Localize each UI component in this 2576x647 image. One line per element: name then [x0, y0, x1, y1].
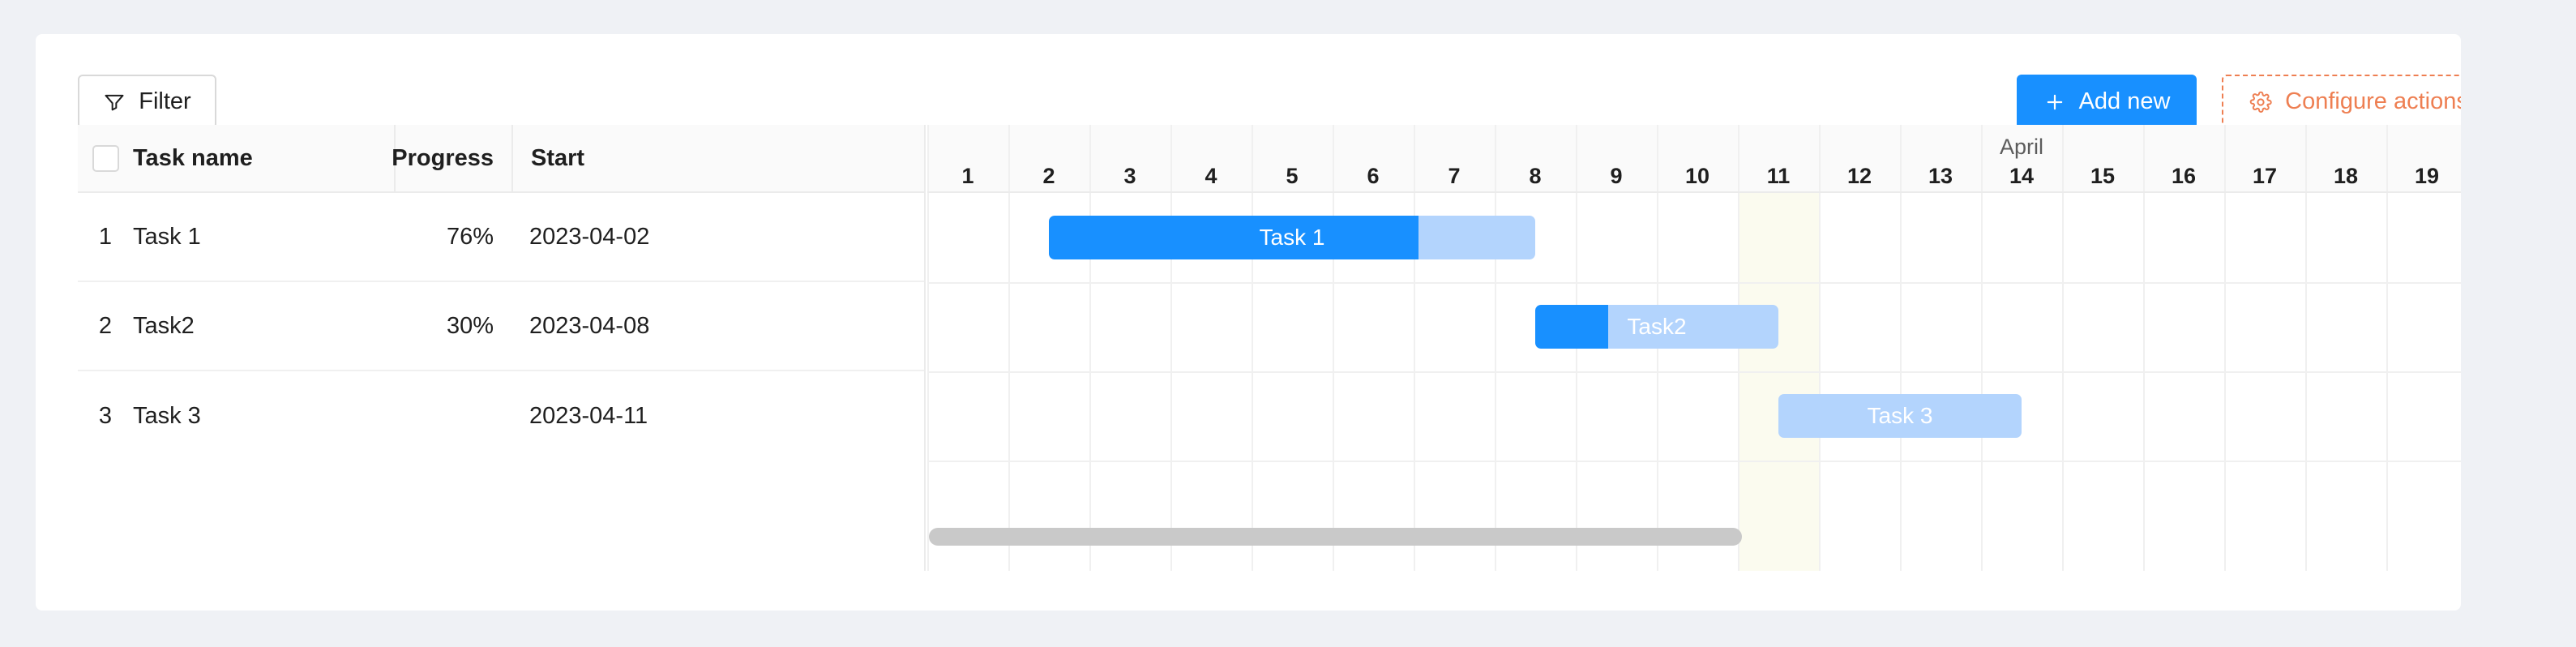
- timeline-day-label: 13: [1928, 164, 1953, 189]
- task-table: Task name Progress Start 1Task 176%2023-…: [78, 125, 926, 571]
- gantt-bar-progress-fill: [1049, 216, 1419, 259]
- timeline-day-label: 12: [1847, 164, 1872, 189]
- row-progress-cell: [394, 371, 511, 461]
- timeline-header-column-divider: [1333, 125, 1334, 191]
- row-start-date-cell: 2023-04-11: [511, 371, 706, 461]
- row-index-cell: 2: [78, 282, 133, 370]
- timeline-header-column-divider: [2143, 125, 2145, 191]
- row-start-date[interactable]: 2023-04-02: [529, 224, 649, 251]
- timeline-header-column-divider: [1576, 125, 1577, 191]
- timeline-day-label: 1: [961, 164, 973, 189]
- timeline-header-column-divider: [1089, 125, 1091, 191]
- timeline-header-column-divider: [1657, 125, 1658, 191]
- timeline-column-divider: [1738, 193, 1739, 571]
- row-index: 3: [99, 403, 112, 430]
- timeline-column-divider: [1900, 193, 1902, 571]
- add-new-button[interactable]: Add new: [2017, 75, 2197, 129]
- timeline-column-divider: [2224, 193, 2226, 571]
- timeline-header-column-divider: [2062, 125, 2064, 191]
- page-root: Filter Add new Configure actions: [0, 0, 2576, 647]
- timeline-day-label: 3: [1123, 164, 1136, 189]
- timeline-day-label: 17: [2253, 164, 2277, 189]
- row-task-name-cell: Task 1: [133, 193, 394, 281]
- timeline-day-label: 2: [1042, 164, 1055, 189]
- row-index: 2: [99, 313, 112, 340]
- header-progress-cell: Progress: [394, 125, 511, 191]
- row-task-name-cell: Task 3: [133, 371, 394, 461]
- table-row[interactable]: 2Task230%2023-04-08: [78, 282, 924, 371]
- timeline-header-column-divider: [2386, 125, 2388, 191]
- header-start-cell: Start: [511, 125, 706, 191]
- row-start-date[interactable]: 2023-04-08: [529, 313, 649, 340]
- select-all-cell: [78, 125, 133, 191]
- timeline-day-label: 4: [1205, 164, 1217, 189]
- timeline-column-divider: [2305, 193, 2307, 571]
- row-task-name[interactable]: Task2: [133, 313, 195, 340]
- timeline-day-label: 14: [2009, 164, 2034, 189]
- task-table-body: 1Task 176%2023-04-022Task230%2023-04-083…: [78, 193, 924, 461]
- timeline-column-divider: [1981, 193, 1983, 571]
- timeline-day-label: 9: [1610, 164, 1622, 189]
- toolbar: Filter Add new Configure actions: [36, 34, 2461, 125]
- timeline-header-column-divider: [1495, 125, 1496, 191]
- row-progress-cell: 30%: [394, 282, 511, 370]
- timeline-column-divider: [2386, 193, 2388, 571]
- timeline-day-label: 5: [1286, 164, 1298, 189]
- filter-icon: [103, 91, 126, 114]
- configure-actions-label: Configure actions: [2285, 90, 2461, 114]
- add-new-button-label: Add new: [2079, 90, 2171, 114]
- timeline-header-column-divider: [1738, 125, 1739, 191]
- timeline-day-label: 19: [2415, 164, 2439, 189]
- timeline-header-column-divider: [1252, 125, 1253, 191]
- timeline-header-column-divider: [1170, 125, 1172, 191]
- timeline-day-label: 6: [1367, 164, 1379, 189]
- row-progress-cell: 76%: [394, 193, 511, 281]
- header-task-name: Task name: [133, 145, 253, 172]
- timeline-column-divider: [1657, 193, 1658, 571]
- timeline-row-divider: [927, 461, 2461, 462]
- filter-button[interactable]: Filter: [78, 75, 216, 129]
- row-task-name[interactable]: Task 3: [133, 403, 201, 430]
- table-row[interactable]: 3Task 32023-04-11: [78, 371, 924, 461]
- timeline: 12345678910111213141516171819April Task …: [927, 125, 2461, 571]
- plus-icon: [2043, 91, 2066, 114]
- timeline-column-divider: [2062, 193, 2064, 571]
- header-task-name-cell: Task name: [133, 125, 394, 191]
- timeline-day-label: 10: [1685, 164, 1709, 189]
- timeline-header-column-divider: [1981, 125, 1983, 191]
- gantt-bar[interactable]: Task 3: [1778, 394, 2022, 438]
- timeline-day-label: 7: [1448, 164, 1460, 189]
- row-start-date-cell: 2023-04-02: [511, 193, 706, 281]
- header-start: Start: [531, 145, 584, 172]
- task-table-header: Task name Progress Start: [78, 125, 924, 193]
- row-index-cell: 3: [78, 371, 133, 461]
- gantt-grid: Task name Progress Start 1Task 176%2023-…: [36, 125, 2461, 571]
- timeline-day-label: 11: [1767, 164, 1791, 189]
- timeline-header-column-divider: [1414, 125, 1415, 191]
- timeline-month-label: April: [2000, 135, 2043, 160]
- row-index-cell: 1: [78, 193, 133, 281]
- row-start-date-cell: 2023-04-08: [511, 282, 706, 370]
- gear-icon: [2249, 91, 2272, 114]
- gantt-bar-label: Task 3: [1778, 394, 2022, 438]
- timeline-header-column-divider: [2224, 125, 2226, 191]
- timeline-body: Task 1Task2Task 3: [927, 193, 2461, 571]
- gantt-bar[interactable]: Task2: [1535, 305, 1778, 349]
- configure-actions-button[interactable]: Configure actions: [2222, 75, 2461, 129]
- timeline-row-divider: [927, 371, 2461, 373]
- header-progress: Progress: [392, 145, 494, 172]
- gantt-card: Filter Add new Configure actions: [36, 34, 2461, 611]
- timeline-header-column-divider: [927, 125, 929, 191]
- timeline-column-divider: [1576, 193, 1577, 571]
- timeline-column-divider: [1008, 193, 1010, 571]
- row-index: 1: [99, 224, 112, 251]
- gantt-bar-progress-fill: [1535, 305, 1608, 349]
- today-column-highlight: [1738, 193, 1819, 571]
- row-start-date[interactable]: 2023-04-11: [529, 403, 648, 430]
- row-progress[interactable]: 30%: [447, 313, 494, 340]
- row-progress[interactable]: 76%: [447, 224, 494, 251]
- filter-button-label: Filter: [139, 90, 190, 114]
- timeline-column-divider: [2143, 193, 2145, 571]
- row-task-name-cell: Task2: [133, 282, 394, 370]
- timeline-header-column-divider: [1900, 125, 1902, 191]
- timeline-column-divider: [927, 193, 929, 571]
- gantt-bar[interactable]: Task 1: [1049, 216, 1535, 259]
- select-all-checkbox[interactable]: [92, 145, 119, 172]
- timeline-day-label: 15: [2090, 164, 2115, 189]
- table-row[interactable]: 1Task 176%2023-04-02: [78, 193, 924, 282]
- row-task-name[interactable]: Task 1: [133, 224, 201, 251]
- timeline-day-label: 8: [1529, 164, 1541, 189]
- timeline-header: 12345678910111213141516171819April: [927, 125, 2461, 193]
- timeline-header-column-divider: [2305, 125, 2307, 191]
- horizontal-scrollbar-track[interactable]: [927, 528, 2461, 546]
- timeline-header-column-divider: [1819, 125, 1821, 191]
- timeline-header-column-divider: [1008, 125, 1010, 191]
- timeline-row-divider: [927, 282, 2461, 284]
- horizontal-scrollbar-thumb[interactable]: [929, 528, 1742, 546]
- timeline-day-label: 18: [2334, 164, 2358, 189]
- timeline-column-divider: [1819, 193, 1821, 571]
- timeline-day-label: 16: [2172, 164, 2196, 189]
